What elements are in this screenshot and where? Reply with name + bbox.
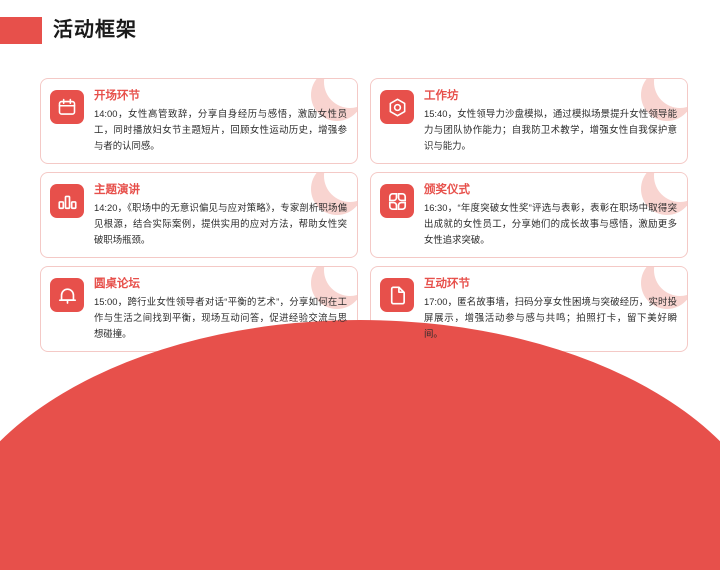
card-title: 互动环节	[424, 276, 677, 292]
card-title: 工作坊	[424, 88, 677, 104]
card-title: 圆桌论坛	[94, 276, 347, 292]
card-description: 14:20，《职场中的无意识偏见与应对策略》，专家剖析职场偏见根源，结合实际案例…	[94, 200, 347, 248]
agenda-card[interactable]: 圆桌论坛 15:00，跨行业女性领导者对话“平衡的艺术”，分享如何在工作与生活之…	[40, 266, 358, 352]
agenda-card[interactable]: 互动环节 17:00，匿名故事墙，扫码分享女性困境与突破经历，实时投屏展示，增强…	[370, 266, 688, 352]
calendar-icon	[50, 90, 84, 124]
page-header: 活动框架	[0, 17, 137, 44]
card-description: 15:40，女性领导力沙盘模拟，通过模拟场景提升女性领导能力与团队协作能力；自我…	[424, 106, 677, 154]
agenda-card[interactable]: 主题演讲 14:20，《职场中的无意识偏见与应对策略》，专家剖析职场偏见根源，结…	[40, 172, 358, 258]
card-description: 17:00，匿名故事墙，扫码分享女性困境与突破经历，实时投屏展示，增强活动参与感…	[424, 294, 677, 342]
agenda-card[interactable]: 工作坊 15:40，女性领导力沙盘模拟，通过模拟场景提升女性领导能力与团队协作能…	[370, 78, 688, 164]
card-title: 开场环节	[94, 88, 347, 104]
bell-icon	[50, 278, 84, 312]
card-description: 14:00，女性高管致辞，分享自身经历与感悟，激励女性员工，同时播放妇女节主题短…	[94, 106, 347, 154]
agenda-card[interactable]: 颁奖仪式 16:30，“年度突破女性奖”评选与表彰，表彰在职场中取得突出成就的女…	[370, 172, 688, 258]
header-accent-bar	[0, 17, 42, 44]
bottom-wave-decoration	[0, 320, 720, 570]
bar-chart-icon	[50, 184, 84, 218]
card-title: 颁奖仪式	[424, 182, 677, 198]
award-petals-icon	[380, 184, 414, 218]
agenda-card-grid: 开场环节 14:00，女性高管致辞，分享自身经历与感悟，激励女性员工，同时播放妇…	[40, 78, 688, 352]
page-title: 活动框架	[53, 17, 137, 44]
card-description: 16:30，“年度突破女性奖”评选与表彰，表彰在职场中取得突出成就的女性员工，分…	[424, 200, 677, 248]
card-description: 15:00，跨行业女性领导者对话“平衡的艺术”，分享如何在工作与生活之间找到平衡…	[94, 294, 347, 342]
document-icon	[380, 278, 414, 312]
hexagon-target-icon	[380, 90, 414, 124]
agenda-card[interactable]: 开场环节 14:00，女性高管致辞，分享自身经历与感悟，激励女性员工，同时播放妇…	[40, 78, 358, 164]
card-title: 主题演讲	[94, 182, 347, 198]
